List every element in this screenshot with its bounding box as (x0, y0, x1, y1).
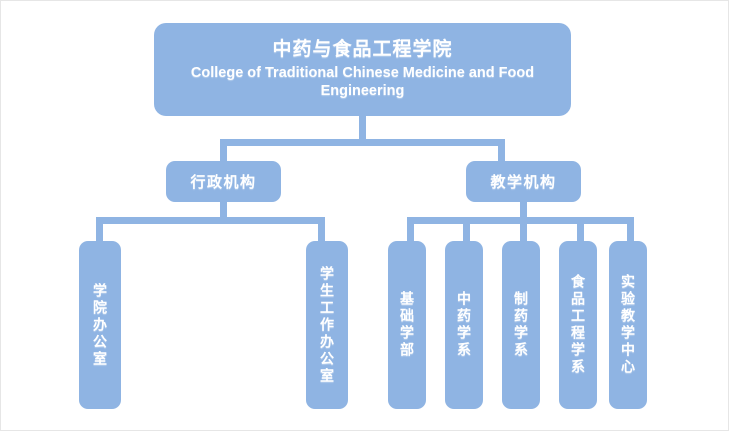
unit-node-student-affairs-office[interactable]: 学生工作办公室 (306, 241, 348, 409)
root-title-chinese: 中药与食品工程学院 (272, 38, 452, 62)
connector-teaching-child-1 (407, 217, 414, 243)
branch-node-administrative[interactable]: 行政机构 (166, 161, 281, 202)
unit-label-experimental-teaching-center: 实验教学中心 (618, 274, 638, 376)
unit-node-food-engineering-department[interactable]: 食品工程学系 (559, 241, 597, 409)
connector-drop-teaching (498, 139, 505, 163)
org-chart: 中药与食品工程学院 College of Traditional Chinese… (0, 0, 729, 431)
unit-label-pharmaceutics-department: 制药学系 (511, 291, 531, 359)
connector-teaching-child-3 (520, 217, 527, 243)
unit-label-tcm-pharmacy-department: 中药学系 (454, 291, 474, 359)
unit-label-student-affairs-office: 学生工作办公室 (317, 266, 337, 385)
connector-drop-admin (220, 139, 227, 163)
connector-admin-child-1 (96, 217, 103, 243)
unit-label-college-office: 学院办公室 (90, 283, 110, 368)
connector-admin-bus (96, 217, 325, 224)
connector-teaching-child-5 (627, 217, 634, 243)
unit-node-basic-department[interactable]: 基础学部 (388, 241, 426, 409)
unit-label-food-engineering-department: 食品工程学系 (568, 274, 588, 376)
connector-admin-child-2 (318, 217, 325, 243)
unit-node-college-office[interactable]: 学院办公室 (79, 241, 121, 409)
connector-teaching-child-2 (463, 217, 470, 243)
branch-label-teaching: 教学机构 (490, 171, 556, 192)
unit-node-pharmaceutics-department[interactable]: 制药学系 (502, 241, 540, 409)
branch-label-administrative: 行政机构 (190, 171, 256, 192)
connector-teaching-child-4 (577, 217, 584, 243)
root-node-college[interactable]: 中药与食品工程学院 College of Traditional Chinese… (154, 23, 571, 116)
unit-node-tcm-pharmacy-department[interactable]: 中药学系 (445, 241, 483, 409)
unit-node-experimental-teaching-center[interactable]: 实验教学中心 (609, 241, 647, 409)
connector-root-bus (220, 139, 505, 146)
branch-node-teaching[interactable]: 教学机构 (466, 161, 581, 202)
connector-root-stem (359, 116, 366, 141)
unit-label-basic-department: 基础学部 (397, 291, 417, 359)
root-title-english: College of Traditional Chinese Medicine … (154, 64, 571, 102)
